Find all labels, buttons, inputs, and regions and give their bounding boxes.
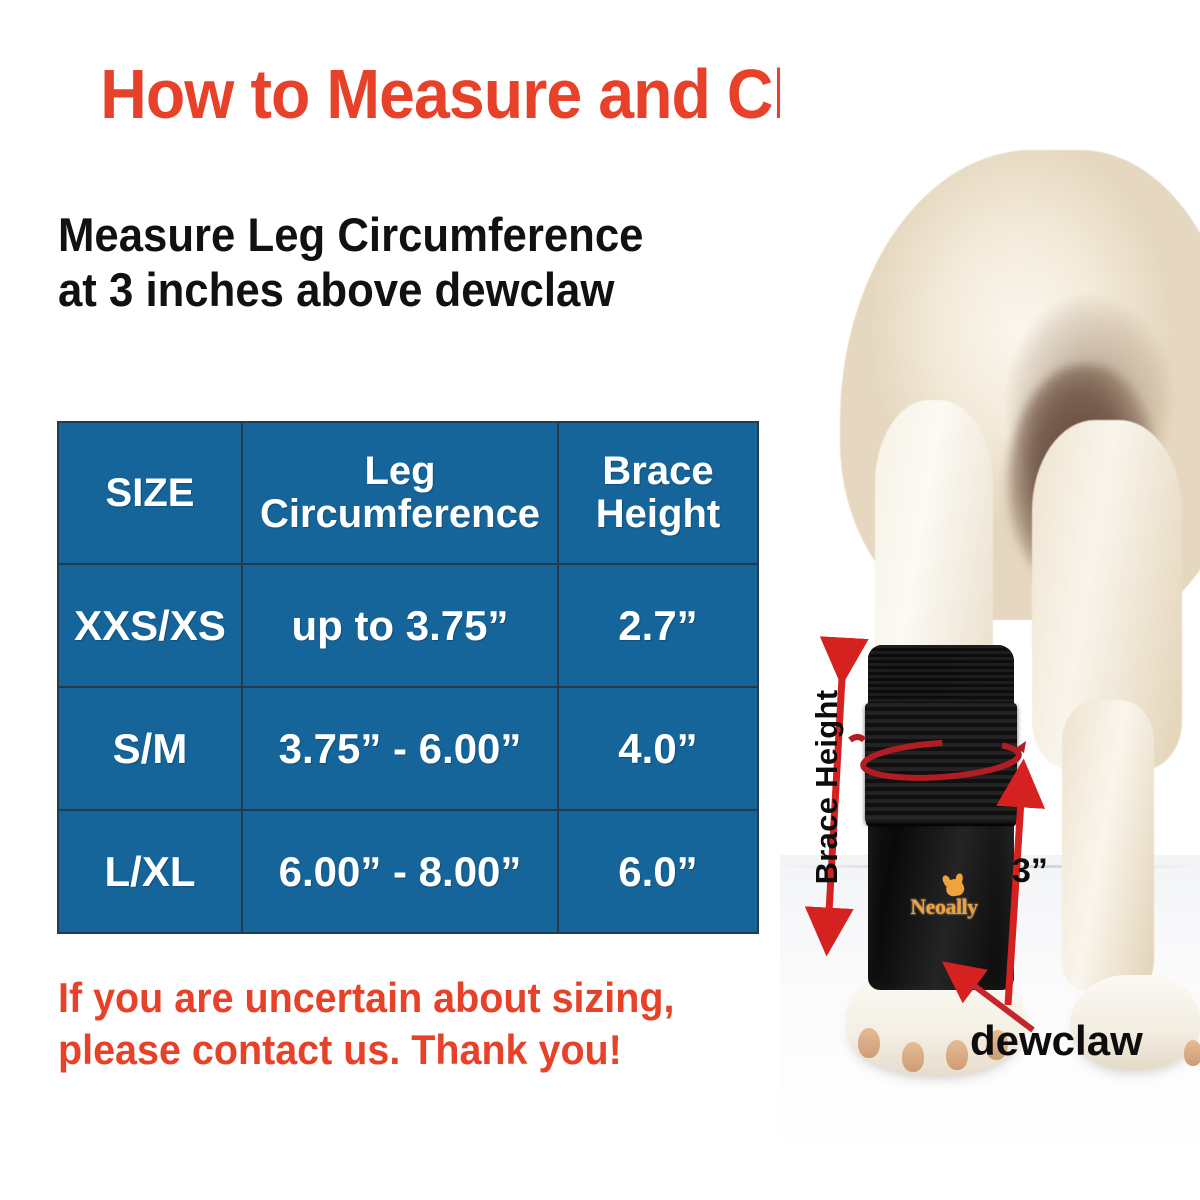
brace-seam: [866, 817, 1016, 826]
instruction-line-1: Measure Leg Circumference: [58, 207, 765, 262]
table-header-circumference-line1: Leg: [243, 450, 557, 493]
three-inch-label: 3”: [1012, 853, 1048, 889]
dog-nail: [946, 1040, 968, 1070]
table-header-brace-line2: Height: [559, 493, 757, 536]
cell-size: S/M: [58, 687, 242, 810]
circumference-arrowhead: [1016, 741, 1026, 753]
table-header-circumference-line2: Circumference: [243, 493, 557, 536]
cell-brace-height: 2.7”: [558, 564, 758, 687]
brace-top-cuff: [868, 645, 1014, 703]
leg-brace-sleeve: Neoally: [868, 645, 1014, 990]
table-row: S/M 3.75” - 6.00” 4.0”: [58, 687, 758, 810]
cell-brace-height: 6.0”: [558, 810, 758, 933]
table-header-size: SIZE: [58, 422, 242, 564]
brace-ribbed-band: [865, 703, 1017, 823]
sizing-help-note-line-2: please contact us. Thank you!: [58, 1024, 754, 1076]
dog-nail: [1184, 1040, 1200, 1066]
cell-circumference: up to 3.75”: [242, 564, 558, 687]
cell-size: L/XL: [58, 810, 242, 933]
cell-circumference: 3.75” - 6.00”: [242, 687, 558, 810]
cell-brace-height: 4.0”: [558, 687, 758, 810]
table-header-brace-height: Brace Height: [558, 422, 758, 564]
table-row: XXS/XS up to 3.75” 2.7”: [58, 564, 758, 687]
dog-leg-right-shin: [1062, 700, 1154, 990]
circumference-tail: [850, 737, 864, 740]
table-header-brace-line1: Brace: [559, 450, 757, 493]
dog-nail: [858, 1028, 880, 1058]
sizing-help-note-line-1: If you are uncertain about sizing,: [58, 972, 754, 1024]
instruction-line-2: at 3 inches above dewclaw: [58, 262, 765, 317]
brand-logo-text: Neoally: [898, 895, 990, 919]
cell-size: XXS/XS: [58, 564, 242, 687]
cell-circumference: 6.00” - 8.00”: [242, 810, 558, 933]
table-row: L/XL 6.00” - 8.00” 6.0”: [58, 810, 758, 933]
brand-logo: Neoally: [898, 883, 990, 923]
dog-nail: [902, 1042, 924, 1072]
dewclaw-label: dewclaw: [970, 1018, 1143, 1064]
table-header-row: SIZE Leg Circumference Brace Height: [58, 422, 758, 564]
table-header-circumference: Leg Circumference: [242, 422, 558, 564]
infographic-root: How to Measure and Choose Size Measure L…: [0, 0, 1200, 1200]
instruction-text: Measure Leg Circumference at 3 inches ab…: [58, 207, 765, 317]
brace-height-label: Brace Height: [810, 677, 844, 897]
sizing-help-note: If you are uncertain about sizing, pleas…: [58, 972, 754, 1076]
size-chart-table: SIZE Leg Circumference Brace Height XXS/…: [57, 421, 759, 934]
